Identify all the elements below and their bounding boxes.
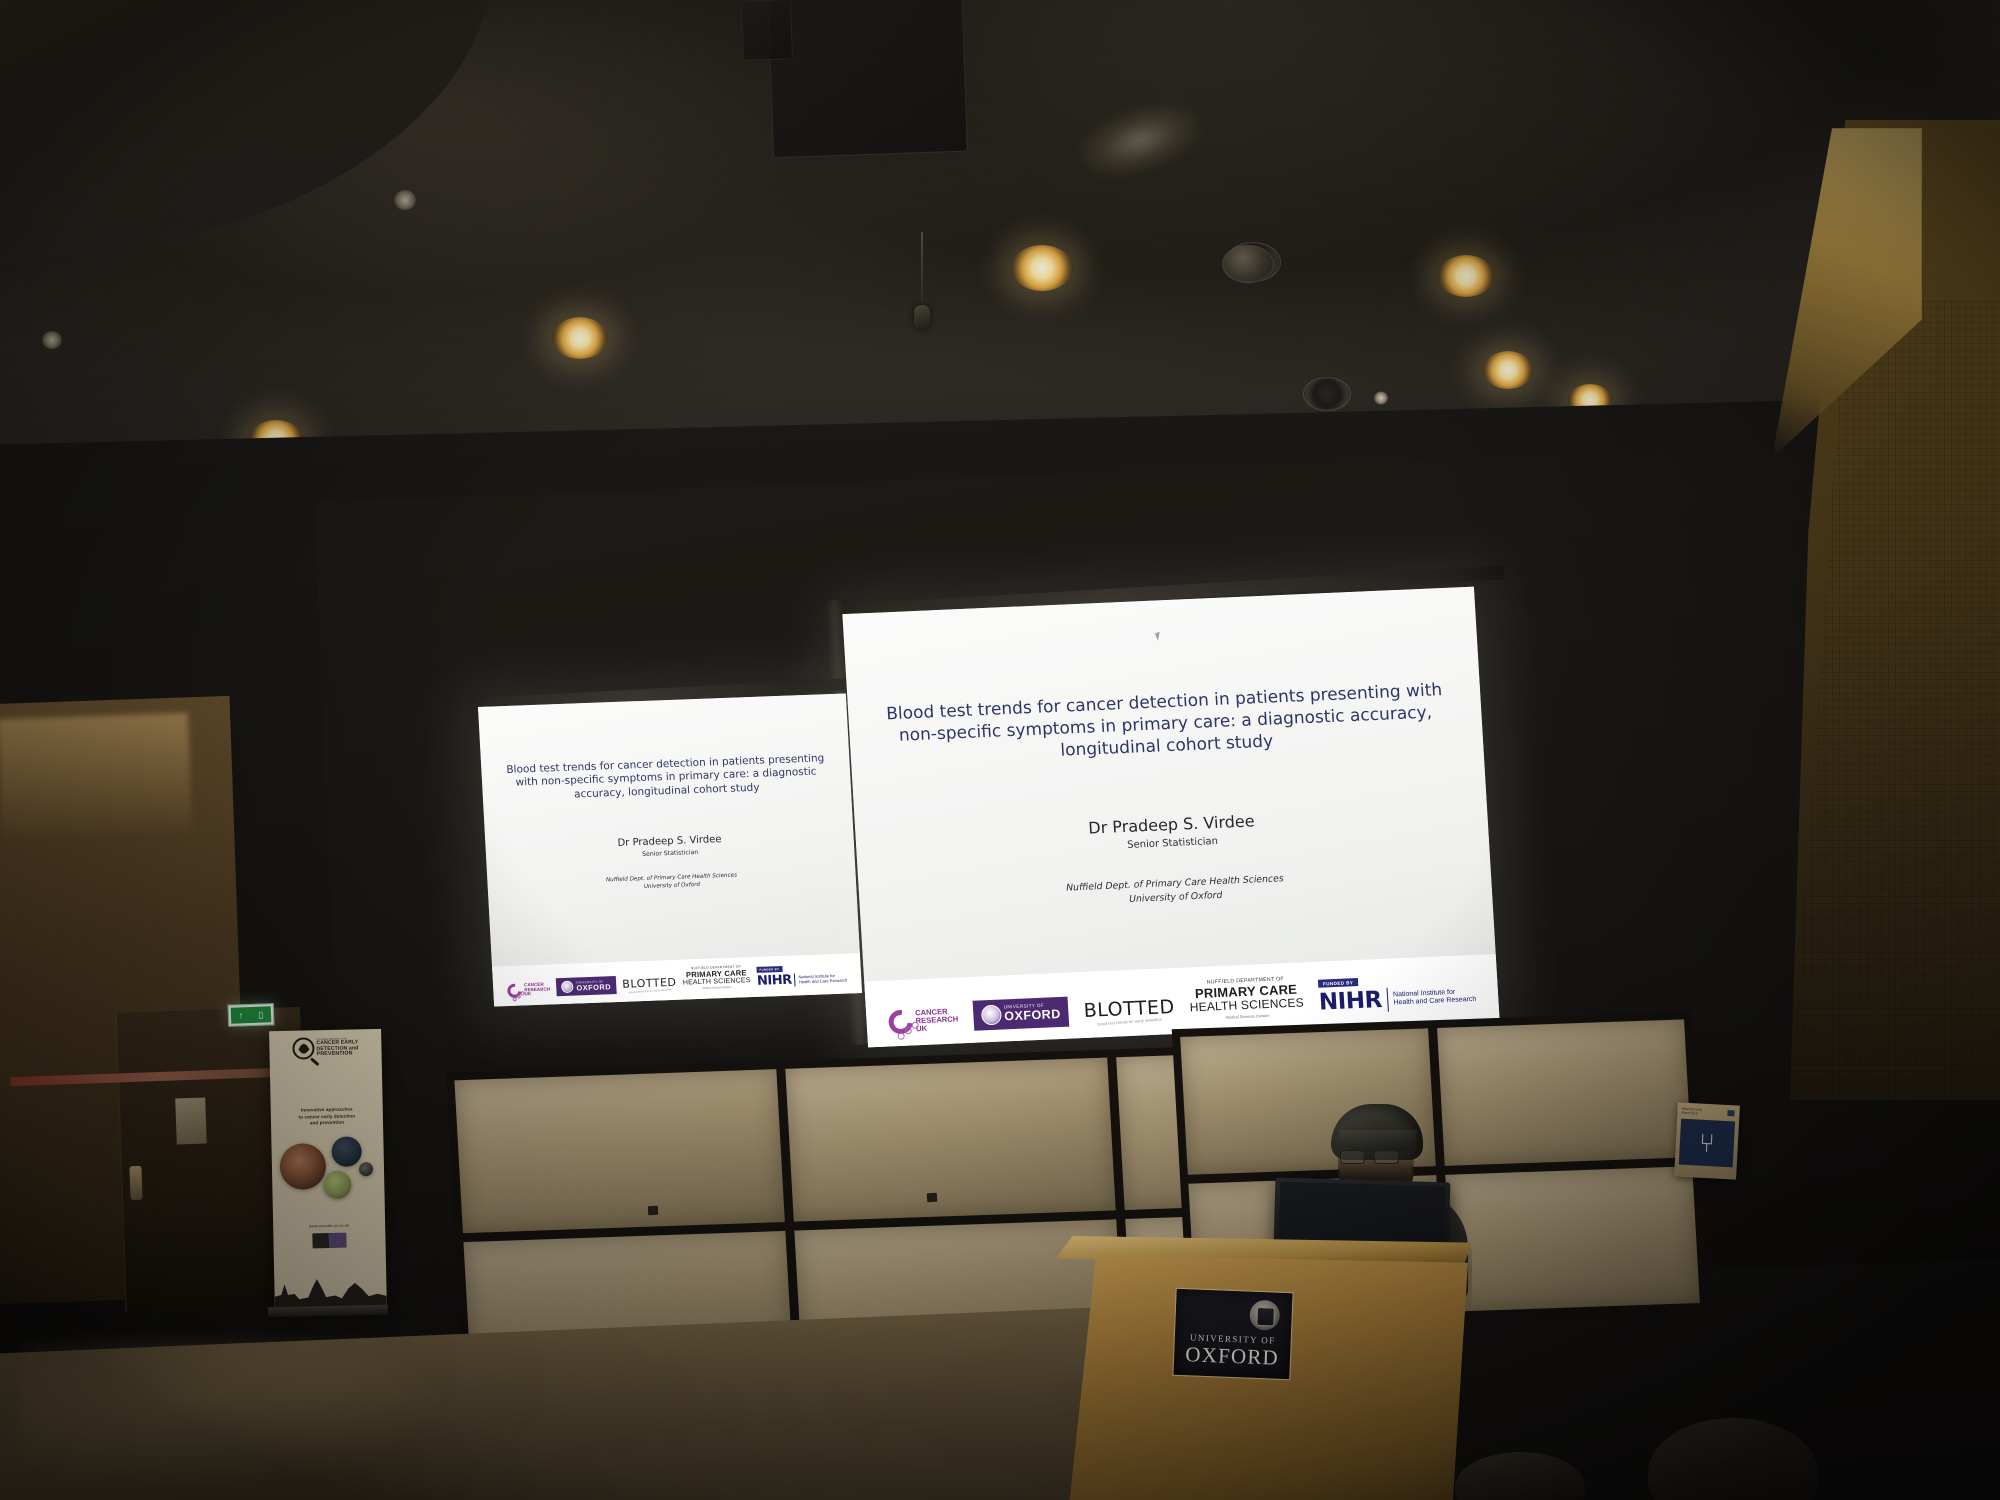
- banner-imagery: [276, 1134, 380, 1220]
- ndpchs-health-sciences: HEALTH SCIENCES: [1189, 997, 1304, 1015]
- nihr-funded-by-badge: FUNDED BY: [756, 966, 782, 973]
- nihr-divider: [1386, 988, 1389, 1012]
- panel-fixing-clip: [648, 1206, 658, 1216]
- ceiling-fitting-small: [1374, 392, 1388, 405]
- acoustic-panel: [454, 1069, 784, 1233]
- banner-photo-circle-large: [279, 1143, 326, 1190]
- banner-cruk-logo: [312, 1233, 346, 1249]
- hearing-loop-corner-mark: [1727, 1110, 1734, 1116]
- banner-logo-line-3: PREVENTION: [317, 1051, 359, 1057]
- exit-running-man-icon: ↑: [238, 1011, 243, 1020]
- oxford-crest-icon: [1249, 1300, 1280, 1331]
- emergency-exit-sign: ↑ ▯: [228, 1003, 275, 1027]
- nihr-funded-by-badge: FUNDED BY: [1318, 978, 1359, 988]
- nuffield-primary-care-logo: NUFFIELD DEPARTMENT OF PRIMARY CARE HEAL…: [1188, 976, 1304, 1021]
- oxford-wordmark: OXFORD: [1004, 1008, 1061, 1023]
- suspended-microphone: [914, 305, 930, 329]
- ndpchs-division: Medical Sciences Division: [703, 987, 732, 991]
- ceiling-downlight: [1483, 351, 1533, 389]
- ceiling-fitting-small: [394, 190, 416, 210]
- blotted-logo: BLOTTED blood test trends for early dete…: [622, 976, 677, 994]
- suspended-microphone-cable: [921, 232, 923, 308]
- banner-url: www.oxcode.ox.ac.uk: [309, 1223, 349, 1229]
- magnifier-icon: [292, 1037, 314, 1059]
- door-handle[interactable]: [129, 1166, 142, 1200]
- plaque-oxford-text: OXFORD: [1185, 1342, 1279, 1371]
- nihr-tail-2: Health and Care Research: [799, 978, 848, 985]
- hearing-loop-sign: Hearing loop fitted here ⑂: [1674, 1102, 1740, 1179]
- oxford-crest-icon: [561, 981, 574, 993]
- banner-photo-circle-small: [359, 1162, 373, 1176]
- acoustic-panel: [1437, 1019, 1692, 1165]
- banner-photo-circle-green: [323, 1170, 352, 1199]
- cancer-early-detection-banner: OXFORD CENTRE FOR CANCER EARLY DETECTION…: [269, 1029, 387, 1311]
- ceiling-vent-panel: [767, 0, 968, 158]
- ceiling-vent-panel-2: [741, 0, 793, 61]
- nihr-divider: [794, 973, 796, 986]
- cruk-line-3: UK: [916, 1023, 959, 1033]
- oxford-crest-icon: [981, 1005, 1002, 1026]
- ceiling-downlight-off: [1303, 377, 1351, 411]
- nihr-acronym: NIHR: [757, 973, 792, 989]
- ceiling-downlight: [552, 317, 608, 359]
- nuffield-primary-care-logo: NUFFIELD DEPARTMENT OF PRIMARY CARE HEAL…: [682, 965, 751, 991]
- oxford-wordmark: OXFORD: [576, 983, 611, 992]
- banner-tagline-3: and prevention: [299, 1120, 356, 1128]
- hearing-loop-ear-icon: ⑂: [1679, 1118, 1735, 1167]
- banner-logo: OXFORD CENTRE FOR CANCER EARLY DETECTION…: [274, 1036, 376, 1060]
- university-of-oxford-logo: UNIVERSITY OF OXFORD: [972, 997, 1069, 1031]
- ndpchs-division: Medical Sciences Division: [1225, 1014, 1269, 1020]
- slide-title: Blood test trends for cancer detection i…: [499, 752, 833, 804]
- ceiling-downlight: [1011, 245, 1073, 291]
- glasses-lens-right: [1374, 1150, 1399, 1164]
- panel-fixing-clip: [927, 1193, 937, 1203]
- glasses-lens-left: [1340, 1150, 1365, 1164]
- acoustic-panel: [785, 1058, 1115, 1222]
- floor-light-pool: [20, 1340, 440, 1490]
- banner-tagline: Innovative approaches to cancer early de…: [298, 1106, 355, 1127]
- ceiling-downlight: [1438, 255, 1494, 297]
- podium-plaque: UNIVERSITY OF OXFORD: [1172, 1288, 1293, 1380]
- banner-photo-circle-dark: [331, 1136, 362, 1167]
- ceiling-speaker: [1222, 245, 1274, 283]
- blotted-logo: BLOTTED blood test trends for early dete…: [1083, 996, 1175, 1026]
- projection-screen-left: Blood test trends for cancer detection i…: [478, 693, 862, 1006]
- presenter-glasses: [1338, 1150, 1412, 1164]
- projection-screen-right: Blood test trends for cancer detection i…: [842, 587, 1499, 1048]
- cruk-line-3: UK: [525, 992, 551, 998]
- nihr-logo: FUNDED BY NIHR National Institute for He…: [1318, 973, 1477, 1016]
- ceiling-fitting-small: [42, 331, 62, 349]
- exit-door-icon: ▯: [258, 1010, 263, 1019]
- university-of-oxford-logo: UNIVERSITY OF OXFORD: [556, 976, 617, 996]
- slide-title: Blood test trends for cancer detection i…: [876, 680, 1455, 770]
- cancer-research-uk-logo: CANCER RESEARCH UK: [888, 1007, 959, 1034]
- glasses-bridge: [1365, 1155, 1374, 1157]
- nihr-logo: FUNDED BY NIHR National Institute for He…: [756, 964, 847, 989]
- acoustic-panel: [1445, 1166, 1700, 1312]
- door-push-plate[interactable]: [175, 1097, 207, 1144]
- cancer-research-uk-logo: CANCER RESEARCH UK: [507, 982, 551, 998]
- left-wood-wall-highlight: [0, 713, 192, 840]
- nihr-acronym: NIHR: [1318, 987, 1382, 1016]
- lecture-theatre-photo: ↑ ▯ Blood test trends for cancer detecti…: [0, 0, 2000, 1500]
